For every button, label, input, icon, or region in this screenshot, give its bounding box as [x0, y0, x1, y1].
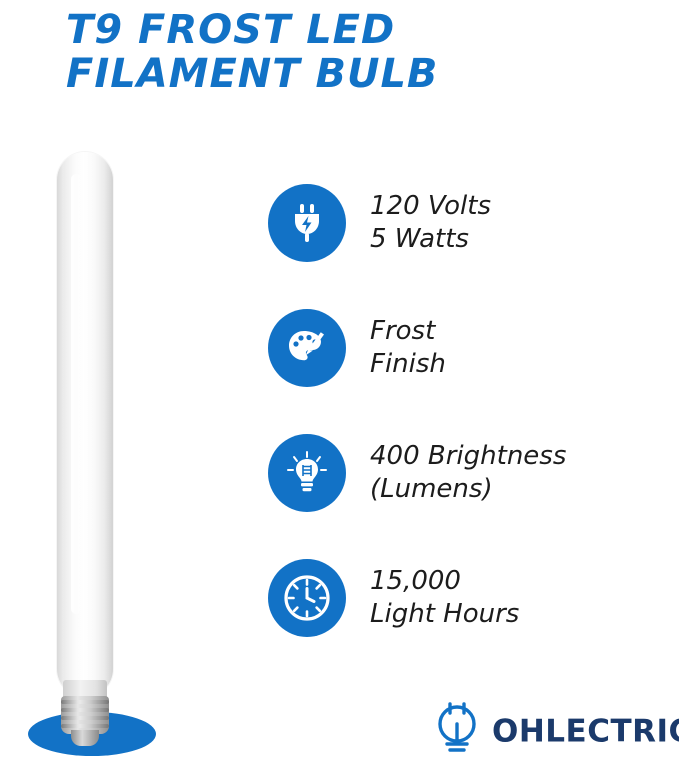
feature-text: 15,000 Light Hours [370, 565, 519, 631]
feature-line-2: 5 Watts [370, 223, 491, 256]
feature-line-1: 120 Volts [370, 190, 491, 223]
brand-logo-text: OHLECTRIC® [492, 710, 679, 748]
plug-icon [268, 184, 346, 262]
bulb-base-tip [71, 730, 99, 746]
list-item: 400 Brightness (Lumens) [268, 410, 668, 535]
feature-line-2: Light Hours [370, 598, 519, 631]
palette-brush-icon [268, 309, 346, 387]
page-title: T9 FROST LED FILAMENT BULB [66, 8, 666, 96]
feature-text: 400 Brightness (Lumens) [370, 440, 566, 506]
page-title-line-2: FILAMENT BULB [66, 52, 666, 96]
list-item: 15,000 Light Hours [268, 535, 668, 660]
feature-line-1: 400 Brightness [370, 440, 566, 473]
feature-line-1: Frost [370, 315, 446, 348]
feature-list: 120 Volts 5 Watts Frost Finish [268, 160, 668, 660]
brand-logo-wordmark: OHLECTRIC [492, 713, 679, 749]
feature-text: 120 Volts 5 Watts [370, 190, 491, 256]
product-image [20, 140, 180, 760]
bulb-plug-logo-icon [428, 700, 486, 758]
feature-line-1: 15,000 [370, 565, 519, 598]
list-item: 120 Volts 5 Watts [268, 160, 668, 285]
lightbulb-icon [268, 434, 346, 512]
list-item: Frost Finish [268, 285, 668, 410]
feature-text: Frost Finish [370, 315, 446, 381]
clock-icon [268, 559, 346, 637]
brand-logo: OHLECTRIC® [428, 700, 679, 758]
page-title-line-1: T9 FROST LED [66, 8, 666, 52]
bulb-screw-base [61, 696, 109, 734]
bulb-glass-tube [57, 152, 113, 697]
feature-line-2: Finish [370, 348, 446, 381]
feature-line-2: (Lumens) [370, 473, 566, 506]
